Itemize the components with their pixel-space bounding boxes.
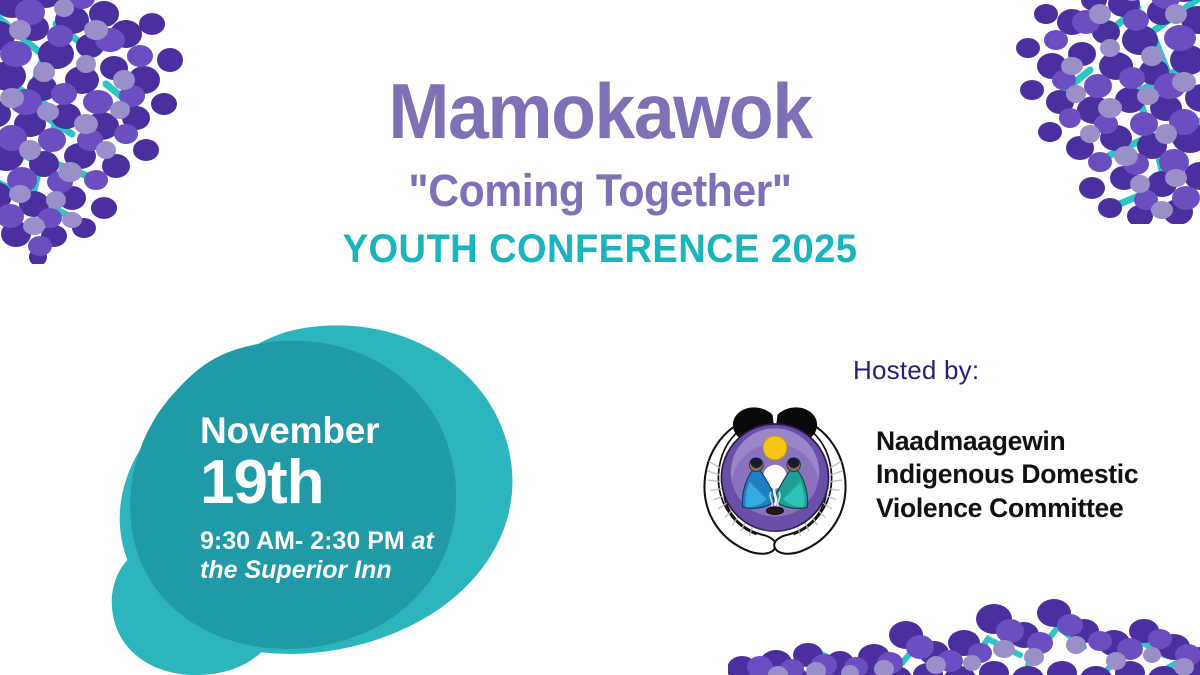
page-title: Mamokawok [36, 72, 1164, 150]
date-text-block: November 19th 9:30 AM- 2:30 PM at the Su… [200, 412, 500, 585]
event-venue: the Superior Inn [200, 556, 392, 584]
event-time-venue: 9:30 AM- 2:30 PM at the Superior Inn [200, 527, 468, 585]
logo-sun [763, 436, 787, 460]
logo-smudge-bowl [767, 507, 784, 515]
organization-line-2: Indigenous Domestic [876, 458, 1138, 492]
page-subtitle: "Coming Together" [30, 168, 1170, 213]
conference-tagline: YOUTH CONFERENCE 2025 [30, 229, 1170, 269]
headline-block: Mamokawok "Coming Together" YOUTH CONFER… [0, 72, 1200, 269]
host-organization-row: Naadmaagewin Indigenous Domestic Violenc… [690, 390, 1138, 560]
organization-line-3: Violence Committee [876, 492, 1138, 526]
floral-cluster-bottom-right [728, 569, 1200, 675]
event-day: 19th [200, 452, 500, 514]
event-at-word: at [412, 527, 434, 555]
organization-name: Naadmaagewin Indigenous Domestic Violenc… [876, 425, 1138, 526]
naadmaagewin-medicine-wheel-logo [690, 390, 860, 560]
event-poster: Mamokawok "Coming Together" YOUTH CONFER… [0, 0, 1200, 675]
event-month: November [200, 412, 500, 450]
event-time: 9:30 AM- 2:30 PM [200, 527, 405, 555]
organization-line-1: Naadmaagewin [876, 425, 1138, 459]
hosted-by-label: Hosted by: [853, 355, 979, 386]
